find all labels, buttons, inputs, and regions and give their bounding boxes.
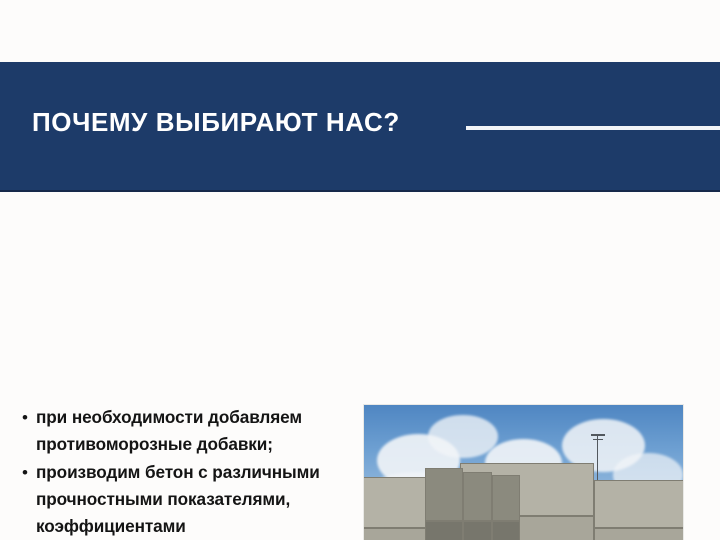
block [425,521,463,540]
list-item-text: при необходимости добавляем противомороз… [36,404,352,458]
concrete-blocks-photo [363,404,684,540]
list-item-text: производим бетон с различными прочностны… [36,459,352,540]
list-item: • при необходимости добавляем противомор… [22,404,352,458]
block [594,528,684,540]
bullet-dot-icon: • [22,459,36,486]
block [594,480,684,528]
bullet-dot-icon: • [22,404,36,431]
block [492,521,521,540]
bullet-list: • при необходимости добавляем противомор… [22,404,352,540]
page-title: ПОЧЕМУ ВЫБИРАЮТ НАС? [32,108,400,137]
block [463,472,492,520]
list-item: • производим бетон с различными прочност… [22,459,352,540]
block [492,475,521,521]
header-rule-decoration [466,126,720,130]
top-white-strip [0,0,720,62]
body-area: • при необходимости добавляем противомор… [0,192,720,540]
slide-canvas: ПОЧЕМУ ВЫБИРАЮТ НАС? • при необходимости… [0,0,720,540]
block [425,468,463,521]
cloud-shape [428,415,498,458]
block [463,521,492,540]
